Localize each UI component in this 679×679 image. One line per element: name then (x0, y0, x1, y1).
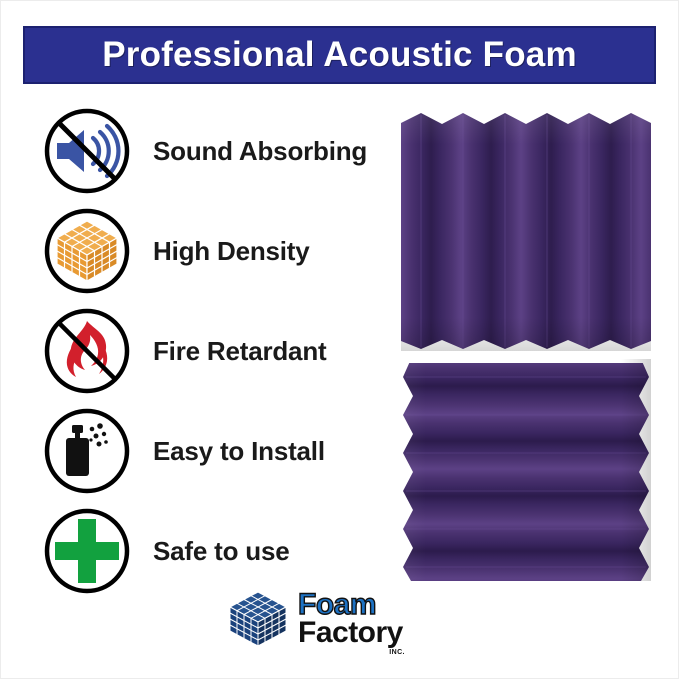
logo-word-factory: Factory (298, 618, 403, 648)
feature-label-fire-retardant: Fire Retardant (153, 336, 326, 367)
logo-wordmark: Foam Factory INC. (298, 590, 403, 648)
feature-row-sound-absorbing: Sound Absorbing (43, 101, 393, 201)
feature-row-high-density: High Density (43, 201, 393, 301)
logo-cube-icon (226, 589, 290, 649)
brand-logo: Foam Factory INC. (226, 587, 436, 651)
feature-row-easy-to-install: Easy to Install (43, 401, 393, 501)
wedge-foam-panel-vertical (401, 111, 651, 351)
feature-list: Sound Absorbing (43, 101, 393, 601)
feature-label-safe-to-use: Safe to use (153, 536, 290, 567)
feature-row-fire-retardant: Fire Retardant (43, 301, 393, 401)
green-cross-icon (43, 507, 131, 595)
no-fire-icon (43, 307, 131, 395)
feature-row-safe-to-use: Safe to use (43, 501, 393, 601)
feature-label-easy-to-install: Easy to Install (153, 436, 325, 467)
feature-label-high-density: High Density (153, 236, 310, 267)
feature-label-sound-absorbing: Sound Absorbing (153, 136, 367, 167)
logo-suffix-inc: INC. (389, 649, 405, 656)
no-sound-icon (43, 107, 131, 195)
cube-blocks-icon (43, 207, 131, 295)
wedge-foam-panel-horizontal (401, 359, 651, 581)
page-title: Professional Acoustic Foam (102, 35, 577, 75)
spray-can-icon (43, 407, 131, 495)
header-banner: Professional Acoustic Foam (23, 26, 656, 84)
product-infographic: Professional Acoustic Foam Sound Absorbi… (0, 0, 679, 679)
